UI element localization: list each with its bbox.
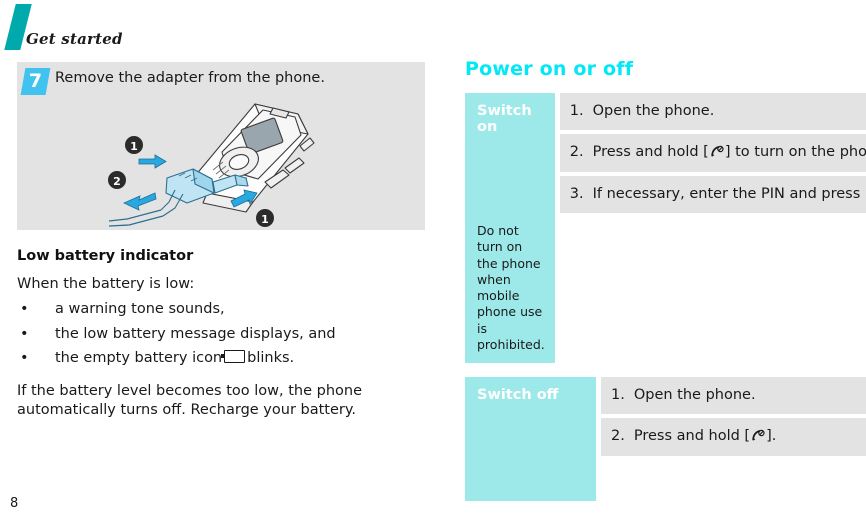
svg-text:1: 1 bbox=[130, 140, 138, 153]
svg-text:2: 2 bbox=[113, 175, 121, 188]
step-number: 1. bbox=[570, 102, 584, 121]
step-number: 3. bbox=[570, 185, 584, 204]
table-row: Switch off 1. Open the phone. 2. Press a… bbox=[465, 377, 866, 501]
step-item: 2. Press and hold [] to turn on the phon… bbox=[560, 134, 866, 171]
low-battery-bullet-list: • a warning tone sounds, • the low batte… bbox=[17, 300, 425, 369]
switch-on-steps-cell: 1. Open the phone. 2. Press and hold [] … bbox=[555, 93, 866, 363]
step-text-after: ] to turn on the phone. bbox=[725, 144, 866, 160]
switch-on-note: Do not turn on the phone when mobile pho… bbox=[477, 223, 545, 353]
switch-off-label: Switch off bbox=[477, 387, 586, 403]
empty-battery-icon bbox=[224, 350, 245, 363]
step-text: Open the phone. bbox=[593, 102, 866, 121]
step-text-before: Press and hold [ bbox=[593, 144, 709, 160]
list-item: • the empty battery iconblinks. bbox=[17, 349, 425, 369]
list-item: • the low battery message displays, and bbox=[17, 325, 425, 345]
switch-off-steps-cell: 1. Open the phone. 2. Press and hold []. bbox=[596, 377, 866, 501]
switch-off-table: Switch off 1. Open the phone. 2. Press a… bbox=[465, 377, 866, 501]
bullet-marker: • bbox=[20, 300, 29, 320]
phone-adapter-removal-diagram: 1 2 1 bbox=[17, 90, 425, 230]
step-item: 2. Press and hold []. bbox=[601, 418, 866, 455]
step-item: 3. If necessary, enter the PIN and press… bbox=[560, 176, 866, 213]
list-item-text: the low battery message displays, and bbox=[55, 326, 336, 342]
svg-text:1: 1 bbox=[261, 213, 269, 226]
power-key-icon bbox=[710, 145, 724, 158]
step-text-after: ]. bbox=[766, 428, 776, 444]
switch-on-table: Switch on Do not turn on the phone when … bbox=[465, 93, 866, 363]
switch-on-label: Switch on bbox=[477, 103, 545, 135]
table-row: Switch on Do not turn on the phone when … bbox=[465, 93, 866, 363]
step-text: Press and hold [] to turn on the phone. bbox=[593, 143, 866, 162]
section-heading: Power on or off bbox=[465, 58, 866, 80]
step-text-before: Press and hold [ bbox=[634, 428, 750, 444]
step-number: 1. bbox=[611, 386, 625, 405]
left-column: 7 Remove the adapter from the phone. bbox=[17, 62, 425, 421]
list-item-text: a warning tone sounds, bbox=[55, 301, 225, 317]
list-item-text: the empty battery icon bbox=[55, 350, 222, 366]
step-item: 1. Open the phone. bbox=[560, 93, 866, 130]
switch-off-label-cell: Switch off bbox=[465, 377, 596, 501]
list-item: • a warning tone sounds, bbox=[17, 300, 425, 320]
step-text: Open the phone. bbox=[634, 386, 858, 405]
step-text: If necessary, enter the PIN and press <O… bbox=[593, 185, 866, 204]
step-text: Press and hold []. bbox=[634, 427, 858, 446]
page-number: 8 bbox=[10, 496, 18, 511]
step-number: 2. bbox=[611, 427, 625, 446]
bullet-marker: • bbox=[20, 325, 29, 345]
step-instruction-text: Remove the adapter from the phone. bbox=[55, 70, 325, 86]
power-key-icon bbox=[751, 429, 765, 442]
switch-on-label-cell: Switch on Do not turn on the phone when … bbox=[465, 93, 555, 363]
low-battery-closing-text: If the battery level becomes too low, th… bbox=[17, 382, 397, 421]
right-column: Power on or off Switch on Do not turn on… bbox=[465, 58, 866, 515]
bullet-marker: • bbox=[20, 349, 29, 369]
step-item: 1. Open the phone. bbox=[601, 377, 866, 414]
list-item-text-after: blinks. bbox=[247, 350, 294, 366]
low-battery-heading: Low battery indicator bbox=[17, 248, 425, 264]
step-number: 2. bbox=[570, 143, 584, 162]
running-header-title: Get started bbox=[26, 30, 123, 48]
step-instruction-box: 7 Remove the adapter from the phone. bbox=[17, 62, 425, 230]
low-battery-intro: When the battery is low: bbox=[17, 276, 425, 292]
step-text-before: If necessary, enter the PIN and press < bbox=[593, 186, 866, 202]
